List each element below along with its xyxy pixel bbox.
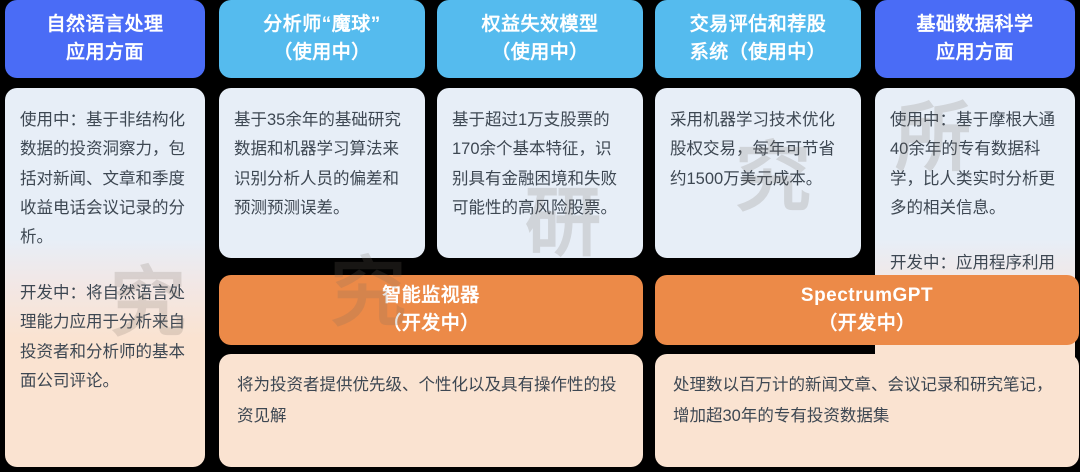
column-paragraph: 开发中：将自然语言处理能力应用于分析来自投资者和分析师的基本面公司评论。 — [20, 279, 190, 396]
column-header-line1: 权益失效模型 — [481, 11, 598, 39]
wide-card-header-smart-monitor[interactable]: 智能监视器 （开发中） — [219, 275, 643, 345]
column-header-line2: （使用中） — [481, 39, 598, 67]
column-body-trade-eval-recommend: 采用机器学习技术优化股权交易，每年可节省约1500万美元成本。 — [655, 88, 861, 258]
column-header-trade-eval-recommend[interactable]: 交易评估和荐股 系统（使用中） — [655, 0, 861, 78]
wide-card-header-spectrum-gpt[interactable]: SpectrumGPT （开发中） — [655, 275, 1079, 345]
column-header-analyst-moneyball[interactable]: 分析师“魔球” （使用中） — [219, 0, 425, 78]
column-header-line1: 基础数据科学 — [916, 11, 1033, 39]
column-header-line1: 交易评估和荐股 — [690, 11, 827, 39]
column-header-line2: 应用方面 — [916, 39, 1033, 67]
column-header-line2: 系统（使用中） — [690, 39, 827, 67]
column-paragraph: 基于35余年的基础研究数据和机器学习算法来识别分析人员的偏差和预测预测误差。 — [234, 106, 410, 223]
wide-card-header-line2: （开发中） — [382, 310, 480, 338]
infographic-board: 自然语言处理 应用方面 使用中：基于非结构化数据的投资洞察力，包括对新闻、文章和… — [0, 0, 1080, 472]
column-paragraph: 使用中：基于非结构化数据的投资洞察力，包括对新闻、文章和季度收益电话会议记录的分… — [20, 106, 190, 253]
column-paragraph: 采用机器学习技术优化股权交易，每年可节省约1500万美元成本。 — [670, 106, 846, 194]
wide-card-spectrum-gpt: SpectrumGPT （开发中） 处理数以百万计的新闻文章、会议记录和研究笔记… — [655, 275, 1079, 467]
wide-card-body-spectrum-gpt: 处理数以百万计的新闻文章、会议记录和研究笔记，增加超30年的专有投资数据集 — [655, 354, 1079, 467]
column-header-nlp[interactable]: 自然语言处理 应用方面 — [5, 0, 205, 78]
wide-card-paragraph: 将为投资者提供优先级、个性化以及具有操作性的投资见解 — [237, 370, 625, 433]
wide-card-paragraph: 处理数以百万计的新闻文章、会议记录和研究笔记，增加超30年的专有投资数据集 — [673, 370, 1061, 433]
column-header-line1: 分析师“魔球” — [263, 11, 381, 39]
wide-card-header-line1: SpectrumGPT — [801, 282, 933, 310]
wide-card-body-smart-monitor: 将为投资者提供优先级、个性化以及具有操作性的投资见解 — [219, 354, 643, 467]
wide-card-smart-monitor: 智能监视器 （开发中） 将为投资者提供优先级、个性化以及具有操作性的投资见解 — [219, 275, 643, 467]
column-header-line1: 自然语言处理 — [46, 11, 163, 39]
wide-card-header-line1: 智能监视器 — [382, 282, 480, 310]
wide-card-header-line2: （开发中） — [801, 310, 933, 338]
column-paragraph: 使用中：基于摩根大通40余年的专有数据科学，比人类实时分析更多的相关信息。 — [890, 106, 1060, 223]
column-body-analyst-moneyball: 基于35余年的基础研究数据和机器学习算法来识别分析人员的偏差和预测预测误差。 — [219, 88, 425, 258]
column-body-nlp: 使用中：基于非结构化数据的投资洞察力，包括对新闻、文章和季度收益电话会议记录的分… — [5, 88, 205, 467]
column-paragraph: 基于超过1万支股票的170余个基本特征，识别具有金融困境和失败可能性的高风险股票… — [452, 106, 628, 223]
column-header-equity-failure-model[interactable]: 权益失效模型 （使用中） — [437, 0, 643, 78]
column-nlp: 自然语言处理 应用方面 使用中：基于非结构化数据的投资洞察力，包括对新闻、文章和… — [5, 0, 205, 472]
column-header-line2: （使用中） — [263, 39, 381, 67]
column-body-equity-failure-model: 基于超过1万支股票的170余个基本特征，识别具有金融困境和失败可能性的高风险股票… — [437, 88, 643, 258]
column-header-line2: 应用方面 — [46, 39, 163, 67]
column-header-foundational-data-science[interactable]: 基础数据科学 应用方面 — [875, 0, 1075, 78]
